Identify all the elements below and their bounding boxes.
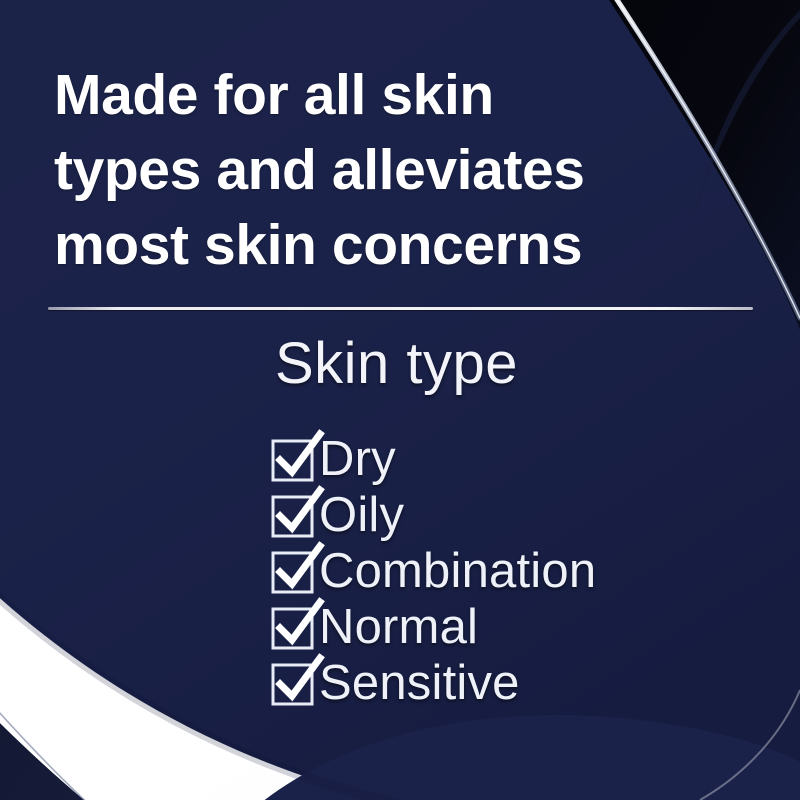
list-item-label: Normal [319,602,478,652]
checked-checkbox-icon [272,608,312,648]
page-title: Made for all skin types and alleviates m… [54,58,714,283]
checked-checkbox-icon [272,664,312,704]
list-item-label: Dry [319,434,396,484]
list-item-label: Sensitive [319,658,520,708]
list-item: Dry [272,432,596,488]
list-item-label: Oily [319,490,404,540]
skin-type-checklist: Dry Oily Combination [272,432,596,712]
checked-checkbox-icon [272,440,312,480]
checked-checkbox-icon [272,552,312,592]
list-item: Sensitive [272,656,596,712]
list-item: Normal [272,600,596,656]
checked-checkbox-icon [272,496,312,536]
product-infographic-panel: Made for all skin types and alleviates m… [0,0,800,800]
list-item: Oily [272,488,596,544]
list-item-label: Combination [319,546,596,596]
section-divider [48,307,753,310]
section-heading-skin-type: Skin type [0,331,793,397]
list-item: Combination [272,544,596,600]
